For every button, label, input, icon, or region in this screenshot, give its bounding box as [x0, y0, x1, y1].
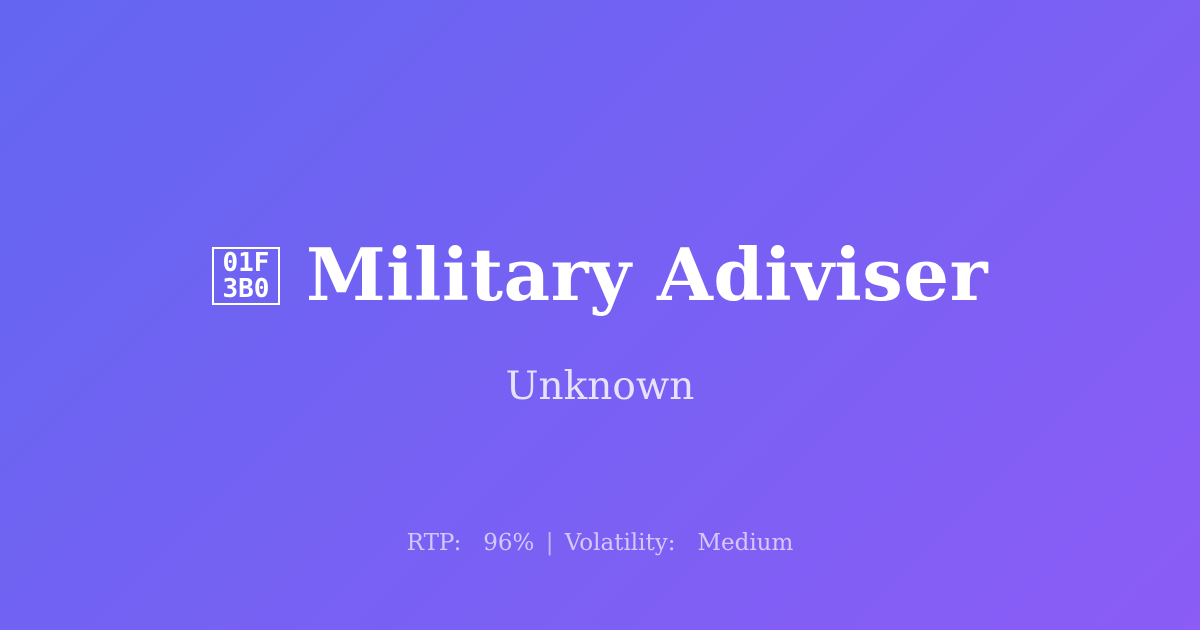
page-subtitle: Unknown — [0, 362, 1200, 412]
rtp-label: RTP: — [407, 530, 462, 556]
meta-separator: | — [542, 530, 558, 556]
game-meta-line: RTP: 96% | Volatility: Medium — [0, 527, 1200, 559]
rtp-value: 96% — [483, 530, 534, 556]
tofu-hex-bottom: 3B0 — [223, 276, 270, 302]
og-card: 01F 3B0 Military Adiviser Unknown RTP: 9… — [0, 0, 1200, 630]
title-row: 01F 3B0 Military Adiviser — [0, 231, 1200, 319]
page-title: Military Adiviser — [306, 231, 988, 319]
tofu-hex-top: 01F — [223, 250, 270, 276]
volatility-value: Medium — [697, 530, 793, 556]
slot-machine-icon: 01F 3B0 — [212, 247, 280, 305]
volatility-label: Volatility: — [565, 530, 676, 556]
